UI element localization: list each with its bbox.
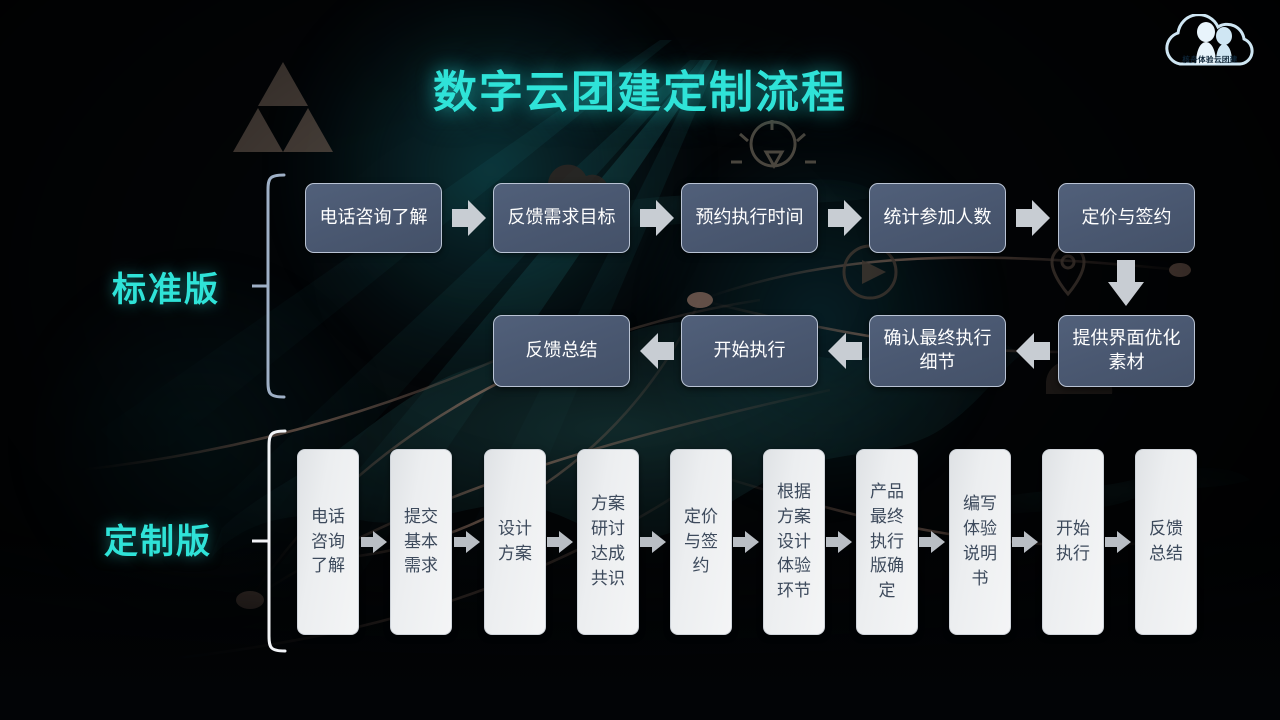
flow-box-custom-5[interactable]: 定价与签约 [670, 449, 732, 635]
arrow-right-icon [733, 531, 759, 553]
flow-box-standard-r1-1[interactable]: 电话咨询了解 [305, 183, 442, 253]
flow-box-line: 总结 [1149, 542, 1183, 567]
section-label-standard: 标准版 [112, 262, 220, 311]
flow-box-custom-1[interactable]: 电话咨询了解 [297, 449, 359, 635]
flow-box-line: 设计 [498, 517, 532, 542]
flow-box-line: 研讨 [591, 517, 625, 542]
flow-box-label: 定价与签约 [1078, 206, 1176, 230]
flow-box-label: 开始执行 [710, 339, 790, 363]
arrow-left-icon [640, 333, 674, 369]
flow-box-line: 开始 [1056, 517, 1090, 542]
flow-box-line: 说明 [963, 542, 997, 567]
flow-box-label: 确认最终执行细节 [880, 327, 996, 375]
flow-box-line: 了解 [311, 554, 345, 579]
flow-box-line: 最终 [870, 505, 904, 530]
flow-box-line: 定 [879, 579, 896, 604]
flow-box-label: 提供界面优化素材 [1069, 327, 1185, 375]
flow-box-label: 统计参加人数 [880, 206, 996, 230]
flow-box-standard-r1-4[interactable]: 统计参加人数 [869, 183, 1006, 253]
flow-box-label: 预约执行时间 [692, 206, 808, 230]
flow-box-line: 版确 [870, 554, 904, 579]
arrow-right-icon [828, 200, 862, 236]
flow-box-custom-10[interactable]: 反馈总结 [1135, 449, 1197, 635]
flow-box-line: 体验 [963, 517, 997, 542]
arrow-right-icon [640, 200, 674, 236]
flow-box-line: 方案 [498, 542, 532, 567]
arrow-right-icon [454, 531, 480, 553]
flow-box-custom-7[interactable]: 产品最终执行版确定 [856, 449, 918, 635]
flow-box-standard-r1-3[interactable]: 预约执行时间 [681, 183, 818, 253]
arrow-right-icon [1016, 200, 1050, 236]
arrow-down-icon [1108, 260, 1144, 306]
page-title: 数字云团建定制流程 [0, 56, 1280, 120]
arrow-right-icon [1105, 531, 1131, 553]
flow-box-custom-6[interactable]: 根据方案设计体验环节 [763, 449, 825, 635]
flow-box-line: 电话 [311, 505, 345, 530]
flow-box-line: 与签 [684, 530, 718, 555]
bracket-custom [252, 428, 296, 654]
arrow-right-icon [919, 531, 945, 553]
flow-box-line: 方案 [777, 505, 811, 530]
flow-box-line: 达成 [591, 542, 625, 567]
bracket-standard [252, 172, 296, 400]
flow-box-line: 体验 [777, 554, 811, 579]
flow-box-custom-9[interactable]: 开始执行 [1042, 449, 1104, 635]
flow-box-line: 约 [693, 554, 710, 579]
flow-box-label: 反馈需求目标 [504, 206, 620, 230]
flow-box-line: 执行 [870, 530, 904, 555]
flow-box-line: 设计 [777, 530, 811, 555]
flow-box-custom-2[interactable]: 提交基本需求 [390, 449, 452, 635]
flow-box-custom-4[interactable]: 方案研讨达成共识 [577, 449, 639, 635]
flow-box-standard-r2-3[interactable]: 确认最终执行细节 [869, 315, 1006, 387]
flow-box-line: 环节 [777, 579, 811, 604]
section-label-custom: 定制版 [104, 514, 212, 563]
arrow-right-icon [826, 531, 852, 553]
flow-box-standard-r2-1[interactable]: 反馈总结 [493, 315, 630, 387]
arrow-right-icon [1012, 531, 1038, 553]
arrow-left-icon [1016, 333, 1050, 369]
flow-box-line: 基本 [404, 530, 438, 555]
arrow-right-icon [452, 200, 486, 236]
flow-box-standard-r2-2[interactable]: 开始执行 [681, 315, 818, 387]
flow-box-line: 共识 [591, 567, 625, 592]
flow-box-line: 产品 [870, 480, 904, 505]
arrow-right-icon [361, 531, 387, 553]
flow-box-line: 书 [972, 567, 989, 592]
flow-box-line: 编写 [963, 492, 997, 517]
flow-box-custom-8[interactable]: 编写体验说明书 [949, 449, 1011, 635]
flow-box-label: 反馈总结 [522, 339, 602, 363]
arrow-left-icon [828, 333, 862, 369]
arrow-right-icon [640, 531, 666, 553]
flow-box-standard-r2-4[interactable]: 提供界面优化素材 [1058, 315, 1195, 387]
flow-box-line: 需求 [404, 554, 438, 579]
flow-box-line: 根据 [777, 480, 811, 505]
flow-box-line: 提交 [404, 505, 438, 530]
flow-box-line: 方案 [591, 492, 625, 517]
flow-box-line: 定价 [684, 505, 718, 530]
flow-box-label: 电话咨询了解 [316, 206, 432, 230]
flow-box-line: 执行 [1056, 542, 1090, 567]
arrow-right-icon [547, 531, 573, 553]
flow-box-standard-r1-2[interactable]: 反馈需求目标 [493, 183, 630, 253]
flow-box-custom-3[interactable]: 设计方案 [484, 449, 546, 635]
flow-box-standard-r1-5[interactable]: 定价与签约 [1058, 183, 1195, 253]
flow-box-line: 反馈 [1149, 517, 1183, 542]
flow-box-line: 咨询 [311, 530, 345, 555]
